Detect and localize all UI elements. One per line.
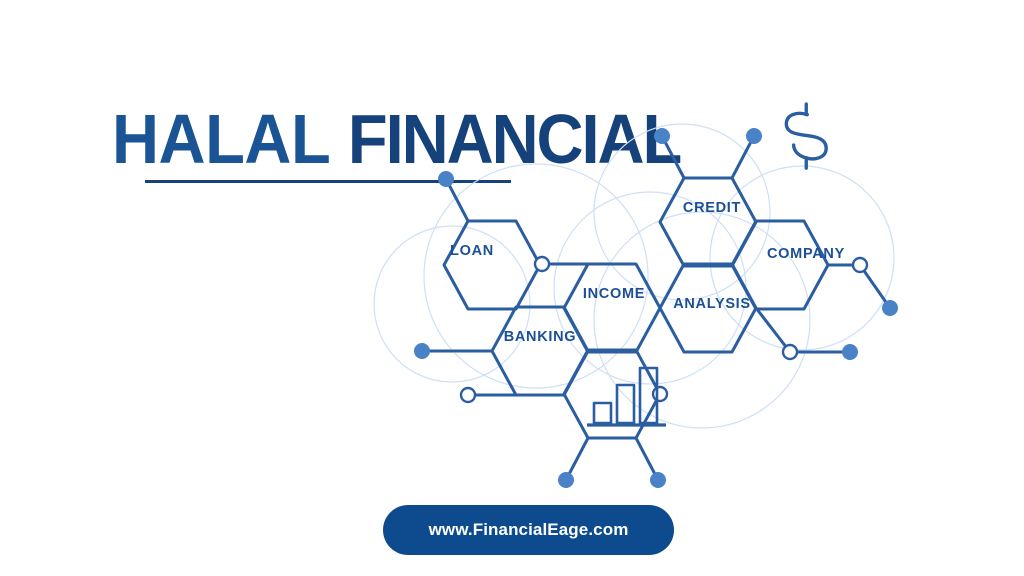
hexagon-label-credit: CREDIT [683, 200, 741, 216]
halo-circle-right [594, 212, 810, 428]
title-space [330, 100, 348, 178]
filled-node-loan-top[interactable] [438, 171, 454, 187]
hollow-node-income-topleft[interactable] [535, 257, 549, 271]
dollar-sign-icon [786, 104, 826, 168]
filled-node-credit-topleft[interactable] [654, 128, 670, 144]
hexagon-label-income: INCOME [583, 286, 645, 302]
bar-chart-bar-1 [594, 403, 611, 423]
website-url-button[interactable]: www.FinancialEage.com [383, 505, 674, 555]
hollow-node-analysis-right[interactable] [783, 345, 797, 359]
hexagon-label-company: COMPANY [767, 246, 845, 262]
filled-node-chart-right[interactable] [650, 472, 666, 488]
hexagon-label-banking: BANKING [504, 329, 577, 345]
hexagon-label-analysis: ANALYSIS [673, 296, 751, 312]
halo-circles [374, 124, 894, 428]
website-url-label: www.FinancialEage.com [429, 520, 629, 540]
filled-node-analysis-end[interactable] [842, 344, 858, 360]
filled-node-company-end[interactable] [882, 300, 898, 316]
hollow-node-chart-right[interactable] [653, 387, 667, 401]
title-word-primary: HALAL [112, 100, 330, 178]
filled-node-banking-left[interactable] [414, 343, 430, 359]
filled-node-credit-topright[interactable] [746, 128, 762, 144]
hollow-node-company-right[interactable] [853, 258, 867, 272]
slide-canvas: HALAL FINANCIAL [0, 0, 1024, 576]
hexagon-network-diagram: LOAN BANKING INCOME CREDIT ANALYSIS COMP… [350, 80, 910, 440]
hollow-node-banking-bottom[interactable] [461, 388, 475, 402]
hexagon-cell-loan[interactable] [444, 221, 540, 309]
bar-chart-bar-2 [617, 385, 634, 423]
filled-node-chart-left[interactable] [558, 472, 574, 488]
hexagon-cell-income[interactable] [564, 264, 660, 352]
hexagon-cell-credit[interactable] [660, 178, 756, 266]
hexagon-label-loan: LOAN [450, 243, 494, 259]
halo-circle-center-left [424, 164, 648, 388]
